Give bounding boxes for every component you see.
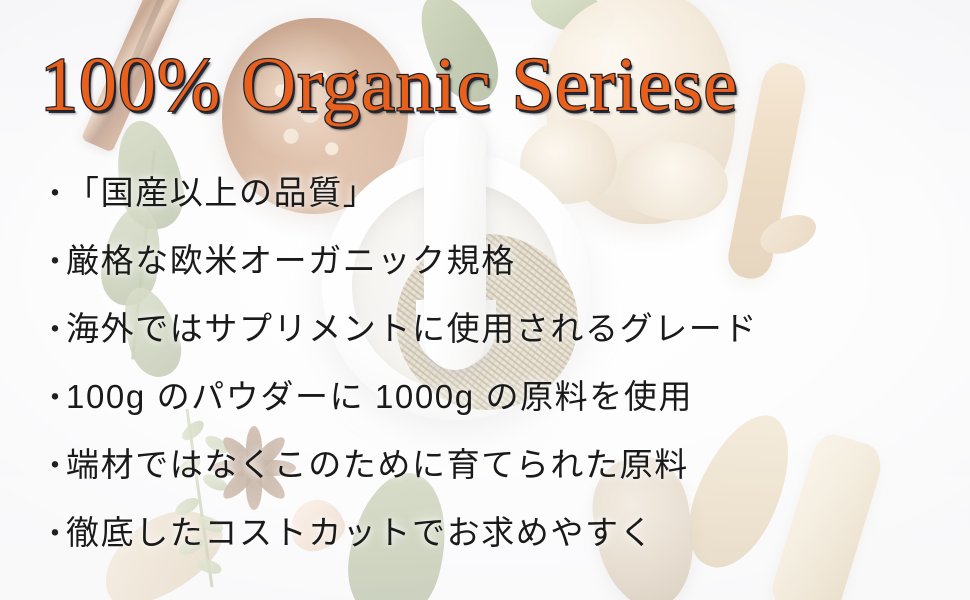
feature-bullet-label: 徹底したコストカットでお求めやすく (66, 506, 654, 554)
feature-bullet-item: ・ 「国産以上の品質」 (40, 166, 940, 234)
banner-headline: 100% Organic Seriese (40, 44, 738, 126)
feature-bullet-item: ・ 厳格な欧米オーガニック規格 (40, 234, 940, 302)
bullet-dot-icon: ・ (40, 520, 66, 550)
feature-bullet-label: 海外ではサプリメントに使用されるグレード (66, 302, 758, 350)
feature-bullet-label: 端材ではなくこのために育てられた原料 (66, 438, 689, 486)
feature-bullet-item: ・ 100g のパウダーに 1000g の原料を使用 (40, 370, 940, 438)
organic-series-banner: 100% Organic Seriese ・ 「国産以上の品質」 ・ 厳格な欧米… (0, 0, 970, 600)
feature-bullet-item: ・ 海外ではサプリメントに使用されるグレード (40, 302, 940, 370)
bullet-dot-icon: ・ (40, 316, 66, 346)
feature-bullet-label: 厳格な欧米オーガニック規格 (66, 234, 516, 282)
bullet-dot-icon: ・ (40, 248, 66, 278)
feature-bullet-label: 100g のパウダーに 1000g の原料を使用 (66, 370, 693, 418)
feature-bullet-item: ・ 徹底したコストカットでお求めやすく (40, 506, 940, 574)
banner-content: 100% Organic Seriese ・ 「国産以上の品質」 ・ 厳格な欧米… (0, 0, 970, 600)
bullet-dot-icon: ・ (40, 180, 66, 210)
feature-bullet-list: ・ 「国産以上の品質」 ・ 厳格な欧米オーガニック規格 ・ 海外ではサプリメント… (40, 166, 940, 574)
bullet-dot-icon: ・ (40, 384, 66, 414)
feature-bullet-label: 「国産以上の品質」 (66, 166, 377, 214)
feature-bullet-item: ・ 端材ではなくこのために育てられた原料 (40, 438, 940, 506)
bullet-dot-icon: ・ (40, 452, 66, 482)
